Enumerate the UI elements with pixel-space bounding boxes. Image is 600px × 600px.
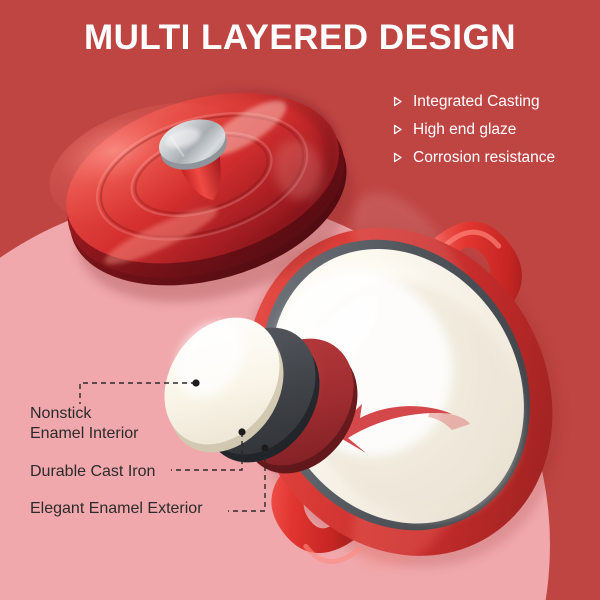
callout-line-2: Enamel Interior <box>30 424 139 444</box>
callout-elegant-enamel-exterior: Elegant Enamel Exterior <box>30 499 203 519</box>
leader-dot-enamel-exterior <box>261 444 268 451</box>
callout-nonstick-enamel-interior: Nonstick Enamel Interior <box>30 404 139 444</box>
leader-line-cast-iron <box>171 432 242 470</box>
triangle-right-outline-icon <box>392 96 404 108</box>
leader-dot-cast-iron <box>238 428 245 435</box>
callout-durable-cast-iron: Durable Cast Iron <box>30 462 155 482</box>
feature-label: High end glaze <box>413 120 516 140</box>
callout-line-1: Elegant Enamel Exterior <box>30 499 203 519</box>
feature-label: Integrated Casting <box>413 92 540 112</box>
feature-item-integrated-casting: Integrated Casting <box>392 92 597 112</box>
feature-item-high-end-glaze: High end glaze <box>392 120 597 140</box>
feature-item-corrosion-resistance: Corrosion resistance <box>392 148 597 168</box>
page-title: MULTI LAYERED DESIGN <box>0 16 600 60</box>
callout-line-1: Durable Cast Iron <box>30 462 155 482</box>
triangle-right-outline-icon <box>392 124 404 136</box>
feature-list: Integrated Casting High end glaze Corros… <box>392 92 597 176</box>
callout-line-1: Nonstick <box>30 404 139 424</box>
infographic-canvas: MULTI LAYERED DESIGN Integrated Casting … <box>0 0 600 600</box>
leader-line-nonstick <box>80 383 196 404</box>
feature-label: Corrosion resistance <box>413 148 555 168</box>
leader-line-enamel-exterior <box>228 448 265 511</box>
triangle-right-outline-icon <box>392 152 404 164</box>
leader-dot-nonstick <box>192 379 199 386</box>
